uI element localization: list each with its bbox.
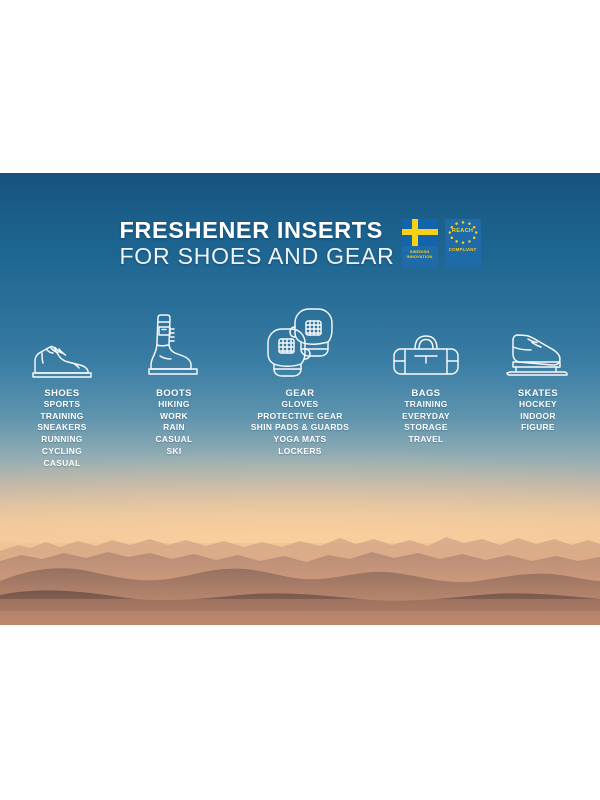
category-shoes-heading: SHOES (37, 387, 86, 399)
category-boots: BOOTS HIKING WORK RAIN CASUAL SKI (118, 303, 230, 458)
category-bags: BAGS TRAINING EVERYDAY STORAGE TRAVEL (370, 303, 482, 446)
category-boots-heading: BOOTS (156, 387, 193, 399)
sneaker-icon (30, 303, 94, 379)
duffel-bag-icon (391, 303, 461, 379)
category-shoes-item: CYCLING (37, 446, 86, 458)
category-skates-heading: SKATES (518, 387, 558, 399)
category-shoes-item: SNEAKERS (37, 422, 86, 434)
category-bags-heading: BAGS (402, 387, 450, 399)
category-bags-list: BAGS TRAINING EVERYDAY STORAGE TRAVEL (402, 387, 450, 446)
headline-secondary: FOR SHOES AND GEAR (119, 243, 394, 270)
banner-header: FRESHENER INSERTS FOR SHOES AND GEAR SWE… (0, 217, 600, 270)
category-skates-item: INDOOR (518, 411, 558, 423)
boxing-gloves-icon (265, 303, 335, 379)
mountain-landscape (0, 495, 600, 625)
category-row: SHOES SPORTS TRAINING SNEAKERS RUNNING C… (0, 303, 600, 470)
page-root: FRESHENER INSERTS FOR SHOES AND GEAR SWE… (0, 0, 600, 800)
eu-stars-icon: REACH (445, 219, 481, 246)
category-gear-item: YOGA MATS (251, 434, 349, 446)
category-boots-item: RAIN (156, 422, 193, 434)
category-boots-item: WORK (156, 411, 193, 423)
category-bags-item: TRAVEL (402, 434, 450, 446)
category-shoes-item: SPORTS (37, 399, 86, 411)
category-bags-item: EVERYDAY (402, 411, 450, 423)
category-skates-item: HOCKEY (518, 399, 558, 411)
category-boots-list: BOOTS HIKING WORK RAIN CASUAL SKI (156, 387, 193, 458)
category-skates: SKATES HOCKEY INDOOR FIGURE (482, 303, 594, 434)
category-shoes-list: SHOES SPORTS TRAINING SNEAKERS RUNNING C… (37, 387, 86, 470)
category-gear-item: GLOVES (251, 399, 349, 411)
category-boots-item: CASUAL (156, 434, 193, 446)
category-bags-item: STORAGE (402, 422, 450, 434)
category-skates-item: FIGURE (518, 422, 558, 434)
promo-banner: FRESHENER INSERTS FOR SHOES AND GEAR SWE… (0, 173, 600, 625)
certification-badges: SWEDISH INNOVATION (402, 217, 481, 268)
category-gear-item: LOCKERS (251, 446, 349, 458)
badge-swedish-caption-line2: INNOVATION (402, 254, 438, 259)
badge-reach-label: REACH (445, 228, 481, 234)
badge-reach-compliant: REACH COMPLIANT (445, 219, 481, 268)
swedish-flag-icon (402, 219, 438, 246)
category-gear-list: GEAR GLOVES PROTECTIVE GEAR SHIN PADS & … (251, 387, 349, 458)
category-bags-item: TRAINING (402, 399, 450, 411)
category-shoes: SHOES SPORTS TRAINING SNEAKERS RUNNING C… (6, 303, 118, 470)
category-shoes-item: TRAINING (37, 411, 86, 423)
category-gear: GEAR GLOVES PROTECTIVE GEAR SHIN PADS & … (230, 303, 370, 458)
category-shoes-item: RUNNING (37, 434, 86, 446)
ice-skate-icon (504, 303, 572, 379)
headline-block: FRESHENER INSERTS FOR SHOES AND GEAR (119, 217, 394, 270)
category-gear-item: SHIN PADS & GUARDS (251, 422, 349, 434)
badge-compliant-label: COMPLIANT (445, 247, 481, 252)
ski-boot-icon (143, 303, 205, 379)
category-skates-list: SKATES HOCKEY INDOOR FIGURE (518, 387, 558, 434)
category-gear-item: PROTECTIVE GEAR (251, 411, 349, 423)
headline-primary: FRESHENER INSERTS (119, 217, 394, 243)
badge-swedish-caption: SWEDISH INNOVATION (402, 249, 438, 260)
badge-swedish-innovation: SWEDISH INNOVATION (402, 219, 438, 268)
category-boots-item: SKI (156, 446, 193, 458)
category-boots-item: HIKING (156, 399, 193, 411)
category-gear-heading: GEAR (251, 387, 349, 399)
category-shoes-item: CASUAL (37, 458, 86, 470)
